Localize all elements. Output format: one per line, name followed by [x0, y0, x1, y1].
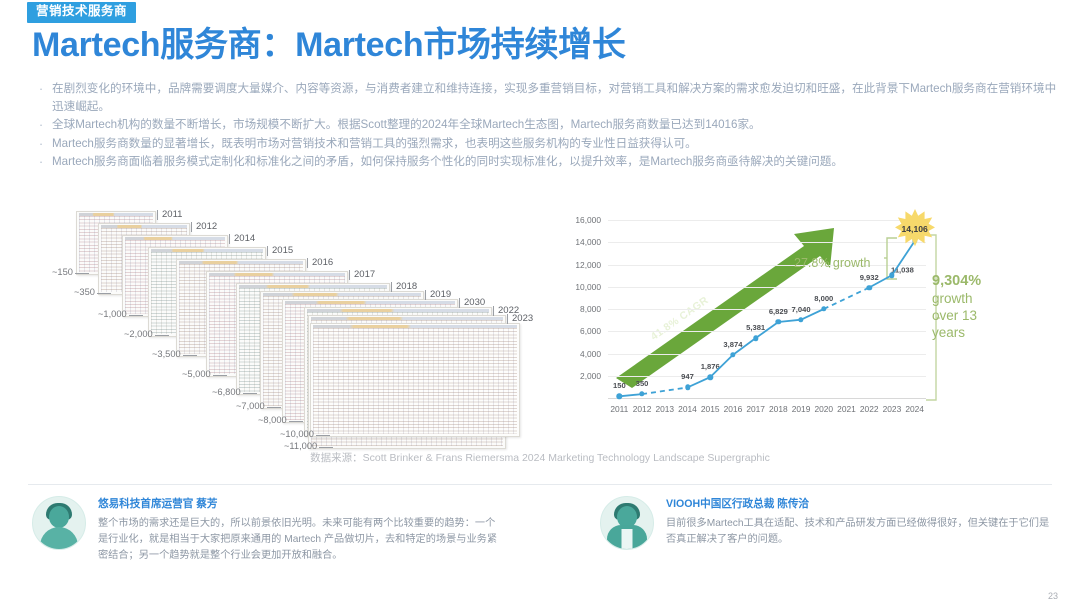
collage-year-label: 2030 [464, 297, 485, 308]
avatar-shirt [622, 529, 633, 549]
collage-count-label: ~350 [74, 287, 95, 297]
chart-point-label: 14,106 [901, 224, 927, 234]
avatar [32, 496, 86, 550]
chart-x-tick-label: 2024 [905, 404, 924, 414]
chart-y-tick-label: 6,000 [580, 326, 601, 336]
quote-text: 整个市场的需求还是巨大的，所以前景依旧光明。未来可能有两个比较重要的趋势：一个是… [98, 516, 502, 564]
landscape-collage: 2011~1502012~3502014~1,0002015~2,0002016… [60, 205, 530, 435]
quote-card-1: 悠易科技首席运营官 蔡芳 整个市场的需求还是巨大的，所以前景依旧光明。未来可能有… [32, 496, 502, 564]
collage-count-label: ~3,500 [152, 349, 181, 359]
chart-x-tick-label: 2017 [746, 404, 765, 414]
total-growth-l3: over 13 [932, 308, 977, 323]
quote-author: 悠易科技首席运营官 蔡芳 [98, 498, 502, 511]
chart-x-tick-label: 2019 [792, 404, 811, 414]
chart-y-tick-label: 14,000 [575, 237, 601, 247]
section-badge: 营销技术服务商 [27, 2, 136, 23]
collage-year-label: 2016 [312, 257, 333, 268]
collage-count-label: ~150 [52, 267, 73, 277]
chart-x-tick-label: 2023 [883, 404, 902, 414]
avatar [600, 496, 654, 550]
chart-series-line [608, 220, 926, 398]
chart-x-tick-label: 2021 [837, 404, 856, 414]
collage-year-label: 2012 [196, 221, 217, 232]
bullet-text: Martech服务商数量的显著增长，既表明市场对营销技术和营销工具的强烈需求，也… [52, 135, 1060, 153]
list-item: · Martech服务商面临着服务模式定制化和标准化之间的矛盾，如何保持服务个性… [30, 153, 1060, 171]
chart-line-segment [642, 387, 687, 394]
chart-line-segment [824, 288, 869, 309]
chart-x-tick-label: 2013 [655, 404, 674, 414]
chart-x-tick-label: 2018 [769, 404, 788, 414]
page-number: 23 [1048, 591, 1058, 601]
chart-x-tick-label: 2015 [701, 404, 720, 414]
chart-y-tick-label: 16,000 [575, 215, 601, 225]
collage-count-label: ~1,000 [98, 309, 127, 319]
chart-line-segment [733, 338, 756, 355]
total-growth-l2: growth [932, 291, 973, 306]
chart-line-segment [688, 377, 711, 387]
collage-year-label: 2017 [354, 269, 375, 280]
bullet-text: 在剧烈变化的环境中，品牌需要调度大量媒介、内容等资源，与消费者建立和维持连接，实… [52, 80, 1060, 115]
collage-count-label: ~2,000 [124, 329, 153, 339]
collage-year-label: 2015 [272, 245, 293, 256]
source-note: 数据来源：Scott Brinker & Frans Riemersma 202… [0, 450, 1080, 465]
chart-x-tick-label: 2020 [814, 404, 833, 414]
chart-line-segment [710, 355, 733, 377]
page-title: Martech服务商：Martech市场持续增长 [32, 26, 626, 65]
bullet-dot-icon: · [30, 80, 52, 98]
collage-count-label: ~7,000 [236, 401, 265, 411]
divider [28, 484, 1052, 485]
chart-line-segment [869, 275, 892, 287]
total-growth-annotation: 9,304% growth over 13 years [932, 272, 1016, 341]
bullet-text: Martech服务商面临着服务模式定制化和标准化之间的矛盾，如何保持服务个性化的… [52, 153, 1060, 171]
bullet-text: 全球Martech机构的数量不断增长，市场规模不断扩大。根据Scott整理的20… [52, 116, 1060, 134]
growth-line-chart: 41.8% CAGR 2,0004,0006,0008,00010,00012,… [548, 212, 1018, 424]
quote-text: 目前很多Martech工具在适配、技术和产品研发方面已经做得很好，但关键在于它们… [666, 516, 1050, 548]
collage-layer-highlight [310, 323, 520, 437]
chart-x-tick-label: 2022 [860, 404, 879, 414]
chart-axis-line [608, 398, 926, 399]
chart-x-tick-label: 2016 [724, 404, 743, 414]
collage-year-label: 2019 [430, 289, 451, 300]
list-item: · Martech服务商数量的显著增长，既表明市场对营销技术和营销工具的强烈需求… [30, 135, 1060, 153]
collage-year-label: 2011 [162, 209, 182, 220]
quote-body: VIOOH中国区行政总裁 陈传洽 目前很多Martech工具在适配、技术和产品研… [666, 496, 1050, 548]
chart-line-segment [801, 309, 824, 320]
collage-count-label: ~8,000 [258, 415, 287, 425]
quote-body: 悠易科技首席运营官 蔡芳 整个市场的需求还是巨大的，所以前景依旧光明。未来可能有… [98, 496, 502, 564]
chart-y-tick-label: 2,000 [580, 371, 601, 381]
chart-y-tick-label: 10,000 [575, 282, 601, 292]
quote-author: VIOOH中国区行政总裁 陈传洽 [666, 498, 1050, 511]
collage-count-label: ~10,000 [280, 429, 314, 439]
chart-y-tick-label: 8,000 [580, 304, 601, 314]
collage-count-label: ~5,000 [182, 369, 211, 379]
collage-year-label: 2023 [512, 313, 533, 324]
bullet-list: · 在剧烈变化的环境中，品牌需要调度大量媒介、内容等资源，与消费者建立和维持连接… [30, 80, 1060, 172]
quote-card-2: VIOOH中国区行政总裁 陈传洽 目前很多Martech工具在适配、技术和产品研… [600, 496, 1050, 550]
chart-line-segment [756, 322, 779, 338]
collage-count-label: ~6,800 [212, 387, 241, 397]
list-item: · 在剧烈变化的环境中，品牌需要调度大量媒介、内容等资源，与消费者建立和维持连接… [30, 80, 1060, 115]
collage-year-label: 2018 [396, 281, 417, 292]
avatar-body [40, 527, 78, 549]
chart-y-tick-label: 4,000 [580, 349, 601, 359]
bullet-dot-icon: · [30, 116, 52, 134]
bullet-dot-icon: · [30, 153, 52, 171]
chart-x-tick-label: 2012 [633, 404, 652, 414]
chart-y-tick-label: 12,000 [575, 260, 601, 270]
bullet-dot-icon: · [30, 135, 52, 153]
avatar-head [49, 506, 69, 528]
collage-count-label: ~11,000 [284, 441, 317, 451]
collage-layer-grid [313, 328, 517, 434]
list-item: · 全球Martech机构的数量不断增长，市场规模不断扩大。根据Scott整理的… [30, 116, 1060, 134]
chart-x-tick-label: 2011 [610, 404, 628, 414]
slide: 营销技术服务商 Martech服务商：Martech市场持续增长 · 在剧烈变化… [0, 0, 1080, 608]
collage-year-label: 2014 [234, 233, 255, 244]
chart-x-tick-label: 2014 [678, 404, 697, 414]
total-growth-value: 9,304% [932, 273, 981, 289]
total-growth-l4: years [932, 325, 965, 340]
chart-plot-area: 41.8% CAGR 2,0004,0006,0008,00010,00012,… [608, 220, 926, 398]
